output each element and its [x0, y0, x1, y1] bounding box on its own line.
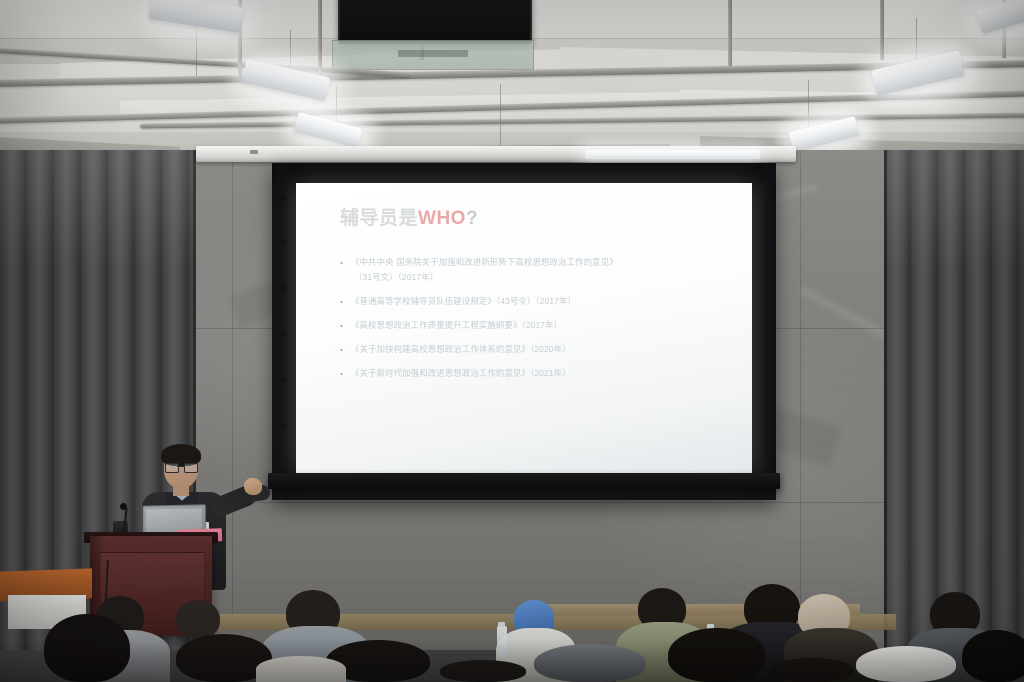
slide-title: 辅导员是WHO?	[340, 209, 726, 230]
bullet-main-text: 《关于新时代加强和改进思想政治工作的意见》（2021年）	[351, 368, 571, 378]
conduit-drop-4	[880, 0, 884, 60]
screen-clip-4	[281, 332, 286, 337]
audience-head-front	[534, 644, 646, 682]
presenter-glasses	[165, 463, 197, 471]
slide-bullet-item: 《关于加快构建高校思想政治工作体系的意见》（2020年）	[340, 343, 726, 356]
bullet-main-text: 《中共中央 国务院关于加强和改进新形势下高校思想政治工作的意见》	[351, 257, 618, 267]
conduit-drop-2	[318, 0, 322, 74]
suspension-wire-4	[500, 84, 501, 148]
bullet-sub-text: （31号文）（2017年）	[351, 271, 726, 284]
screen-clip-2	[281, 240, 286, 245]
audience-head-front	[962, 630, 1024, 682]
slide-bullet-item: 《高校思想政治工作质量提升工程实施纲要》（2017年）	[340, 319, 726, 332]
slide-bullet-list: 《中共中央 国务院关于加强和改进新形势下高校思想政治工作的意见》 （31号文）（…	[340, 256, 726, 380]
screen-weight-bar	[268, 473, 780, 489]
audience-head-front	[668, 628, 766, 682]
slide-bullet-item: 《中共中央 国务院关于加强和改进新形势下高校思想政治工作的意见》 （31号文）（…	[340, 256, 726, 284]
audience-head-front	[440, 660, 526, 682]
glasses-lens-left	[165, 463, 179, 473]
bullet-main-text: 《高校思想政治工作质量提升工程实施纲要》（2017年）	[351, 320, 562, 330]
ceiling-tv-display	[338, 0, 532, 44]
glasses-bridge	[177, 466, 184, 467]
suspension-wire-3	[336, 86, 337, 126]
glasses-lens-right	[184, 463, 198, 473]
audience-head-front	[856, 646, 956, 682]
ceiling-light-4	[585, 150, 760, 159]
audience-head-front	[256, 656, 346, 682]
audience-head-front	[770, 658, 854, 682]
curtain-sheen-right	[884, 150, 1024, 270]
wall-seam-h2	[196, 502, 886, 503]
screen-clip-1	[281, 196, 286, 201]
slide-title-accent: WHO	[418, 208, 466, 229]
audience-head-front	[44, 614, 130, 682]
wall-seam-v1	[800, 150, 801, 620]
housing-indicator	[250, 150, 258, 154]
slide-bullet-item: 《关于新时代加强和改进思想政治工作的意见》（2021年）	[340, 367, 726, 380]
slide-bullet-item: 《普通高等学校辅导员队伍建设规定》（43号令）（2017年）	[340, 295, 726, 308]
screen-border-left	[276, 163, 288, 489]
bullet-main-text: 《关于加快构建高校思想政治工作体系的意见》（2020年）	[351, 344, 571, 354]
screen-border-right	[764, 163, 776, 489]
lecture-hall-photo: 辅导员是WHO? 《中共中央 国务院关于加强和改进新形势下高校思想政治工作的意见…	[0, 0, 1024, 682]
curtain-panel-right	[884, 150, 1024, 650]
tv-label-strip	[398, 50, 468, 57]
curtain-edge-right	[884, 150, 887, 650]
bottle-cap	[498, 622, 505, 627]
conduit-drop-3	[728, 0, 732, 66]
water-bottle	[497, 626, 507, 658]
screen-clip-3	[281, 286, 286, 291]
presentation-slide: 辅导员是WHO? 《中共中央 国务院关于加强和改进新形势下高校思想政治工作的意见…	[296, 183, 752, 473]
screen-top-border	[272, 163, 776, 183]
screen-clip-6	[281, 424, 286, 429]
suspension-wire-5	[808, 80, 809, 126]
screen-clip-5	[281, 378, 286, 383]
slide-title-chinese: 辅导员是	[340, 208, 418, 229]
bullet-main-text: 《普通高等学校辅导员队伍建设规定》（43号令）（2017年）	[351, 296, 576, 306]
curtain-sheen-left	[0, 150, 196, 270]
audience-head	[176, 600, 220, 638]
slide-title-punctuation: ?	[466, 208, 478, 229]
microphone-icon	[120, 503, 127, 510]
presenter-hand	[244, 478, 262, 495]
